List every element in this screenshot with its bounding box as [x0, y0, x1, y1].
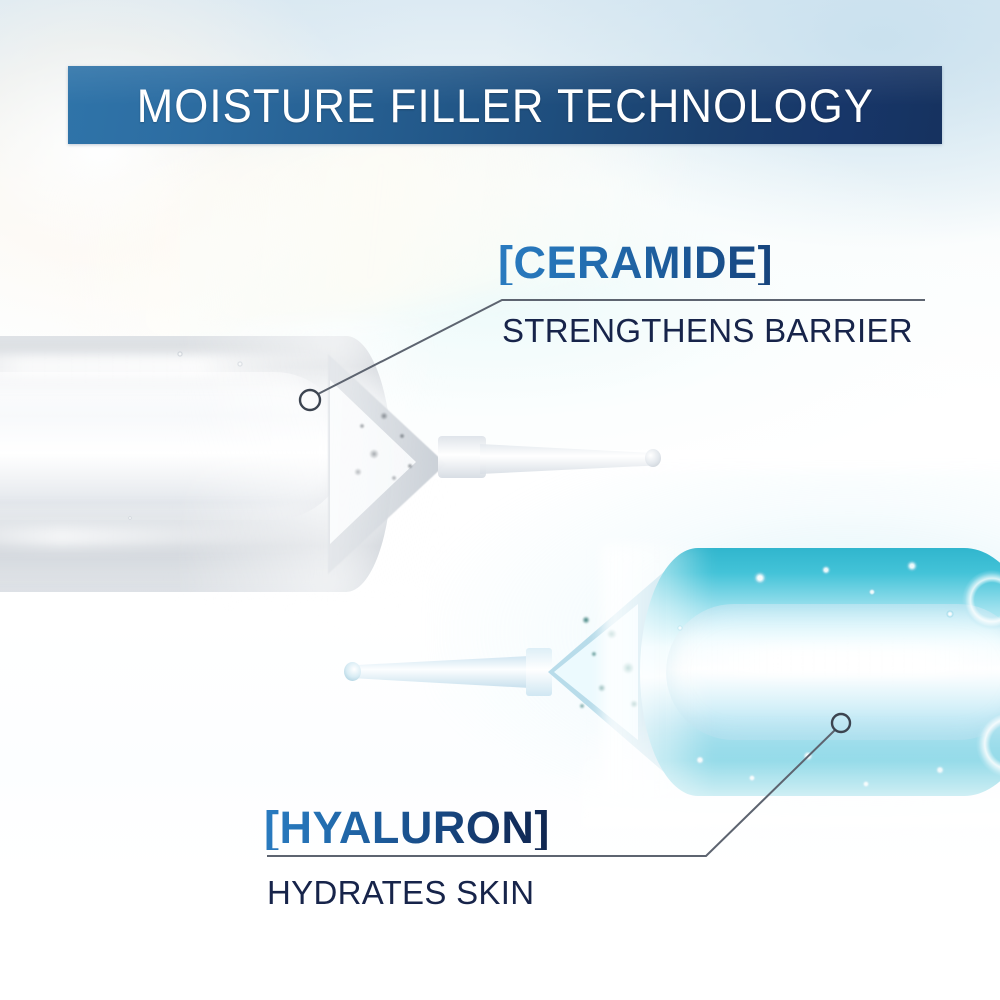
callout-hyaluron: [HYALURON] HYDRATES SKIN [264, 805, 550, 909]
clear-ampoule-tip-cap [645, 449, 661, 467]
clear-ampoule-tip [480, 444, 658, 474]
clear-ampoule-particles [350, 406, 428, 490]
technology-banner: MOISTURE FILLER TECHNOLOGY [68, 66, 942, 144]
clear-ampoule-neck [438, 436, 486, 478]
clear-ampoule-bubbles [0, 338, 350, 588]
callout-ceramide-title: [CERAMIDE] [498, 240, 913, 285]
callout-ceramide-subtitle: STRENGTHENS BARRIER [502, 314, 913, 347]
blue-ampoule-tip-cap [344, 662, 361, 681]
banner-title: MOISTURE FILLER TECHNOLOGY [136, 78, 873, 133]
callout-hyaluron-subtitle: HYDRATES SKIN [267, 876, 550, 909]
promo-graphic: MOISTURE FILLER TECHNOLOGY [CERAMIDE] ST… [0, 0, 1000, 1000]
callout-hyaluron-title: [HYALURON] [264, 805, 550, 850]
callout-ceramide: [CERAMIDE] STRENGTHENS BARRIER [498, 240, 913, 347]
blue-ampoule-tip [352, 656, 530, 688]
